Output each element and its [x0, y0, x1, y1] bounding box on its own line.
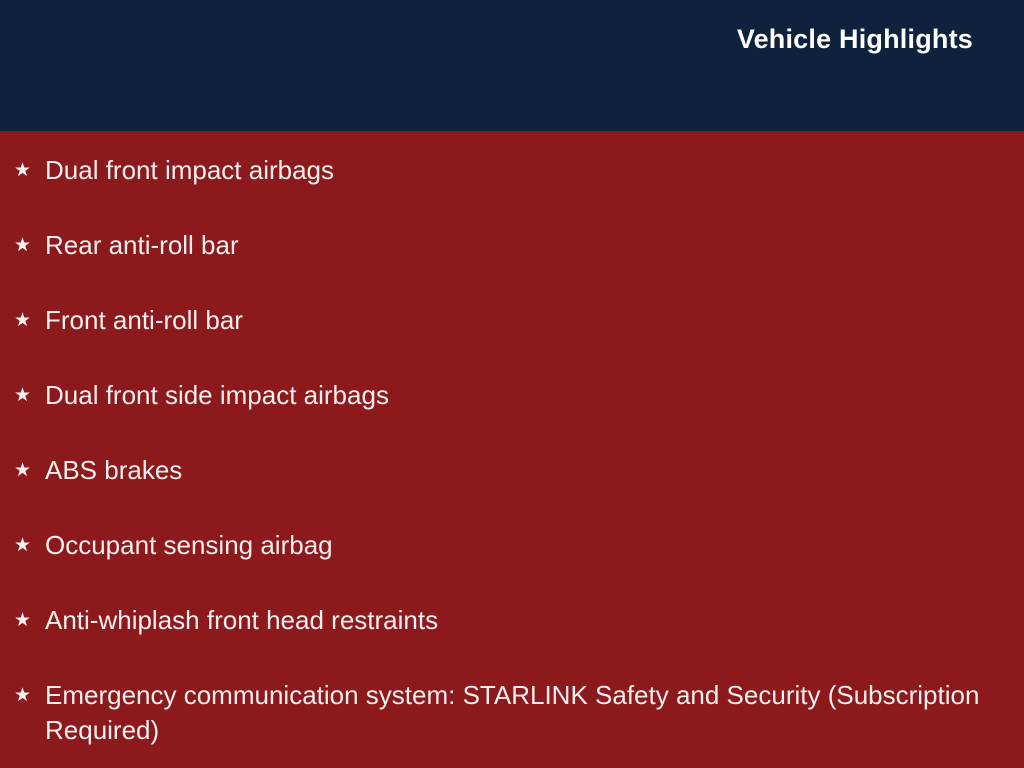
list-item: ★ Front anti-roll bar — [14, 303, 984, 338]
star-icon: ★ — [14, 528, 36, 563]
page-title: Vehicle Highlights — [737, 25, 973, 55]
list-item-label: Emergency communication system: STARLINK… — [45, 678, 984, 748]
list-item-label: ABS brakes — [45, 453, 984, 488]
highlights-section: ★ Dual front impact airbags ★ Rear anti-… — [0, 131, 1024, 768]
list-item: ★ ABS brakes — [14, 453, 984, 488]
star-icon: ★ — [14, 603, 36, 638]
list-item: ★ Dual front impact airbags — [14, 153, 984, 188]
list-item-label: Rear anti-roll bar — [45, 228, 984, 263]
list-item-label: Front anti-roll bar — [45, 303, 984, 338]
list-item-label: Occupant sensing airbag — [45, 528, 984, 563]
star-icon: ★ — [14, 303, 36, 338]
star-icon: ★ — [14, 153, 36, 188]
slide-header-band: Vehicle Highlights — [0, 0, 1024, 131]
star-icon: ★ — [14, 678, 36, 713]
list-item-label: Dual front side impact airbags — [45, 378, 984, 413]
vehicle-highlights-slide: Vehicle Highlights ★ Dual front impact a… — [0, 0, 1024, 768]
star-icon: ★ — [14, 378, 36, 413]
star-icon: ★ — [14, 228, 36, 263]
star-icon: ★ — [14, 453, 36, 488]
highlights-list: ★ Dual front impact airbags ★ Rear anti-… — [14, 153, 984, 748]
list-item: ★ Rear anti-roll bar — [14, 228, 984, 263]
list-item: ★ Dual front side impact airbags — [14, 378, 984, 413]
list-item-label: Dual front impact airbags — [45, 153, 984, 188]
list-item: ★ Occupant sensing airbag — [14, 528, 984, 563]
list-item: ★ Anti-whiplash front head restraints — [14, 603, 984, 638]
list-item-label: Anti-whiplash front head restraints — [45, 603, 984, 638]
list-item: ★ Emergency communication system: STARLI… — [14, 678, 984, 748]
